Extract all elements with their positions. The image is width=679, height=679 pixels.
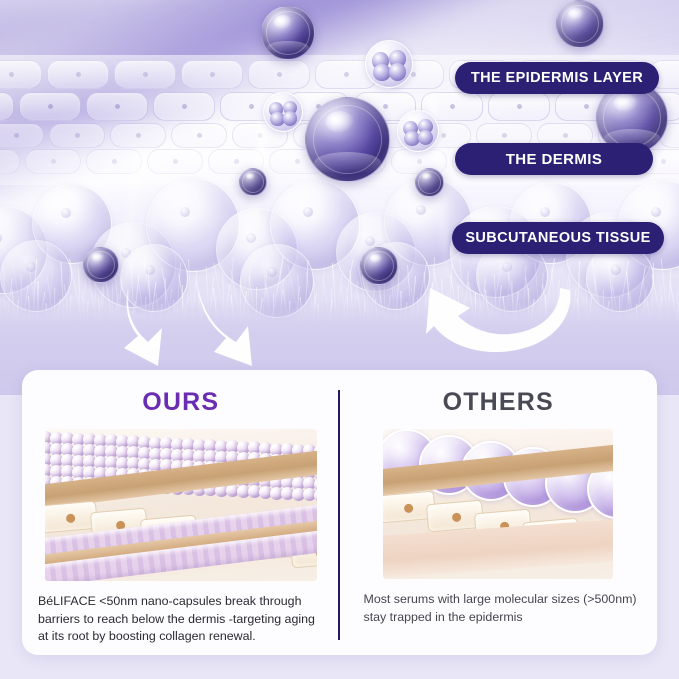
nano-capsule-sphere	[556, 0, 604, 48]
nano-capsule-sphere	[239, 168, 267, 196]
nano-capsule-sphere	[83, 247, 119, 283]
multi-lobe-capsule	[365, 40, 413, 88]
poster: THE EPIDERMIS LAYER THE DERMIS SUBCUTANE…	[0, 0, 679, 679]
comparison-column-ours: OURS BéLIFACE <50nm nano-capsules break …	[22, 370, 340, 655]
layer-badge-epidermis-label: THE EPIDERMIS LAYER	[471, 70, 643, 86]
others-title: OTHERS	[443, 388, 554, 417]
multi-lobe-capsule	[263, 92, 303, 132]
comparison-card: OURS BéLIFACE <50nm nano-capsules break …	[22, 370, 657, 655]
others-thumbnail	[383, 429, 613, 579]
skin-cross-section-illustration: THE EPIDERMIS LAYER THE DERMIS SUBCUTANE…	[0, 0, 679, 395]
layer-badge-dermis-label: THE DERMIS	[506, 151, 603, 168]
ours-caption: BéLIFACE <50nm nano-capsules break throu…	[38, 593, 324, 646]
nano-capsule-sphere	[415, 168, 444, 197]
multi-lobe-capsule	[397, 110, 439, 152]
ours-title: OURS	[142, 388, 219, 417]
layer-badge-subcutaneous[interactable]: SUBCUTANEOUS TISSUE	[452, 222, 664, 254]
others-caption: Most serums with large molecular sizes (…	[356, 591, 642, 626]
comparison-divider	[338, 390, 340, 640]
layer-badge-dermis[interactable]: THE DERMIS	[455, 143, 653, 175]
comparison-column-others: OTHERS Most serums with large molecular …	[340, 370, 658, 655]
layer-badge-epidermis[interactable]: THE EPIDERMIS LAYER	[455, 62, 659, 94]
nano-capsule-sphere	[305, 97, 390, 182]
nano-capsule-sphere	[261, 6, 315, 60]
layer-badge-subcutaneous-label: SUBCUTANEOUS TISSUE	[465, 230, 650, 246]
ours-thumbnail	[45, 429, 317, 581]
nano-capsule-sphere	[360, 247, 398, 285]
